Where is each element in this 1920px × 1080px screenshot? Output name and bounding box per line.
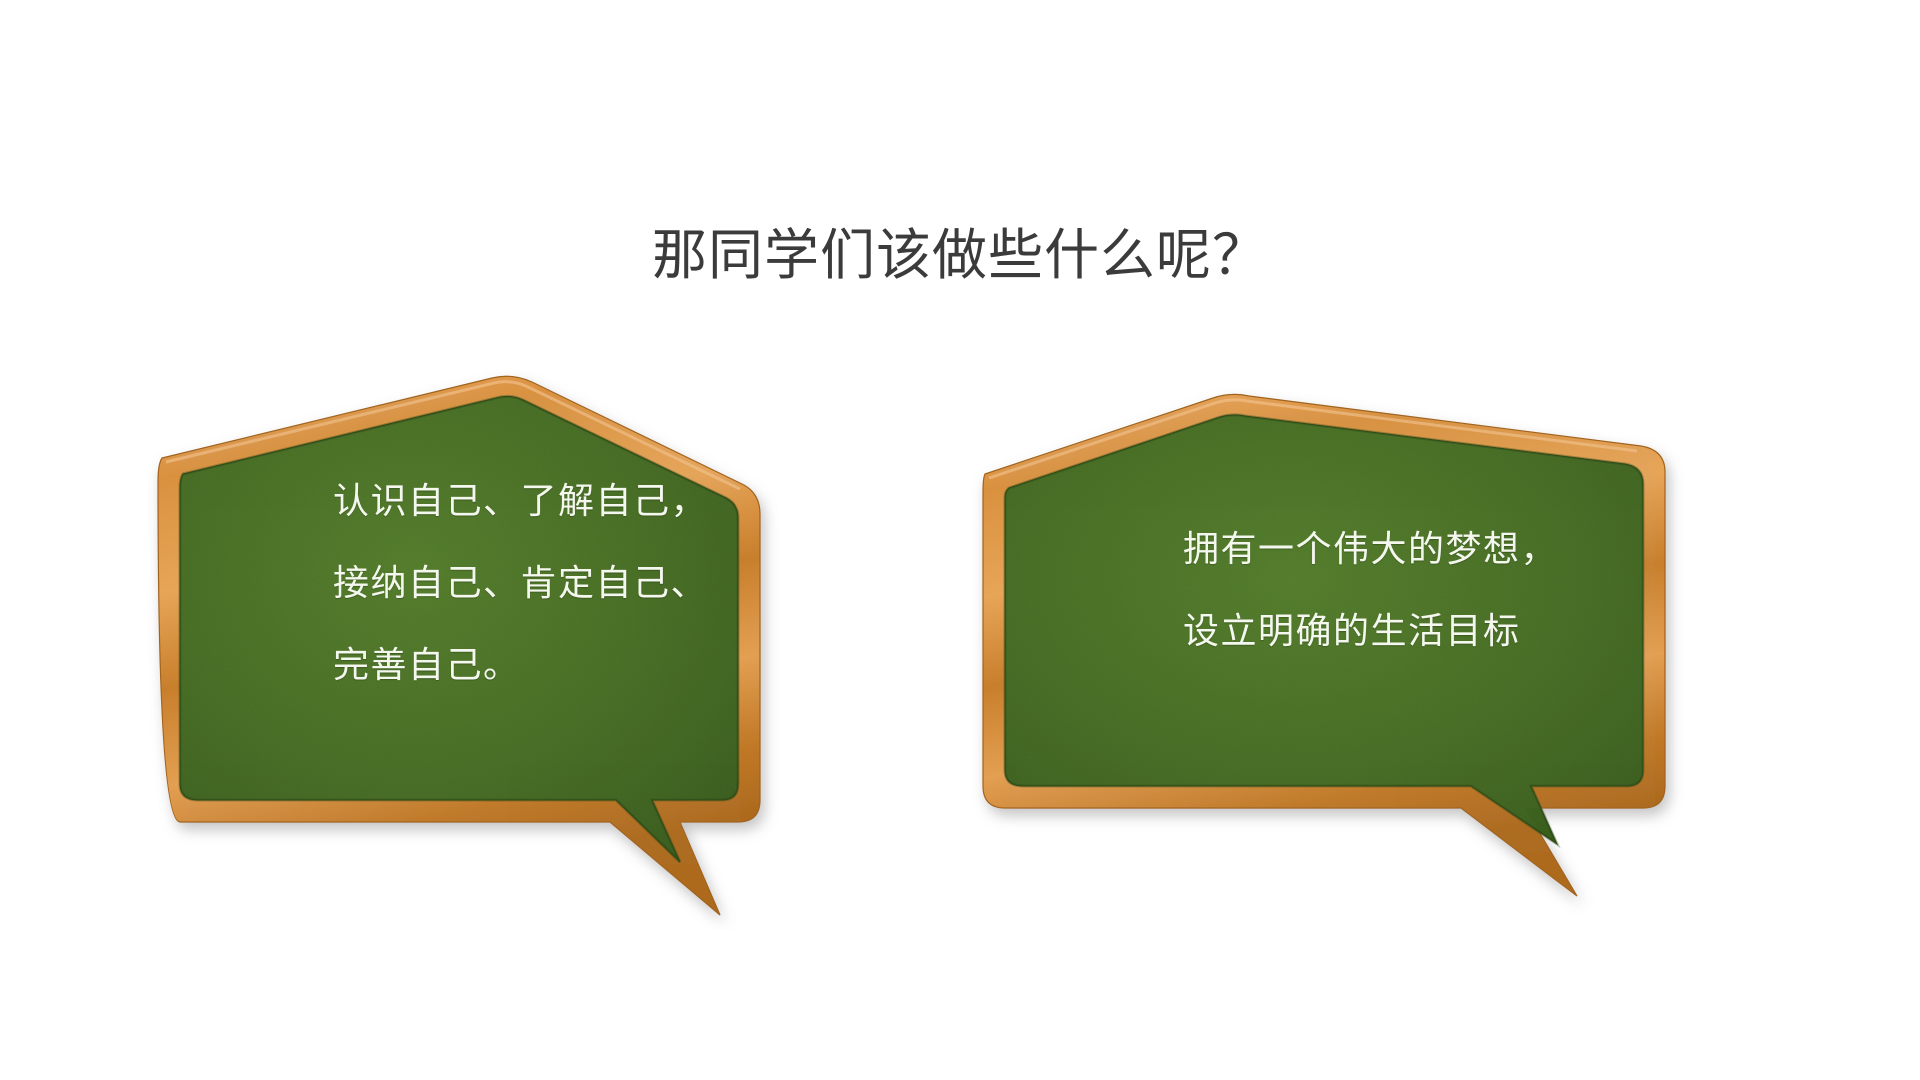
left-speech-bubble: 认识自己、了解自己， 接纳自己、肯定自己、 完善自己。	[140, 370, 920, 930]
right-speech-bubble: 拥有一个伟大的梦想， 设立明确的生活目标	[965, 388, 1755, 933]
slide-canvas: 那同学们该做些什么呢？	[0, 0, 1920, 1080]
page-title: 那同学们该做些什么呢？	[0, 222, 1920, 288]
left-bubble-text: 认识自己、了解自己， 接纳自己、肯定自己、 完善自己。	[333, 460, 708, 706]
left-text-line-3: 完善自己。	[333, 624, 708, 706]
right-text-line-1: 拥有一个伟大的梦想，	[1183, 508, 1558, 590]
right-bubble-text: 拥有一个伟大的梦想， 设立明确的生活目标	[1183, 508, 1558, 672]
left-text-line-2: 接纳自己、肯定自己、	[333, 542, 708, 624]
left-text-line-1: 认识自己、了解自己，	[333, 460, 708, 542]
right-text-line-2: 设立明确的生活目标	[1183, 590, 1558, 672]
